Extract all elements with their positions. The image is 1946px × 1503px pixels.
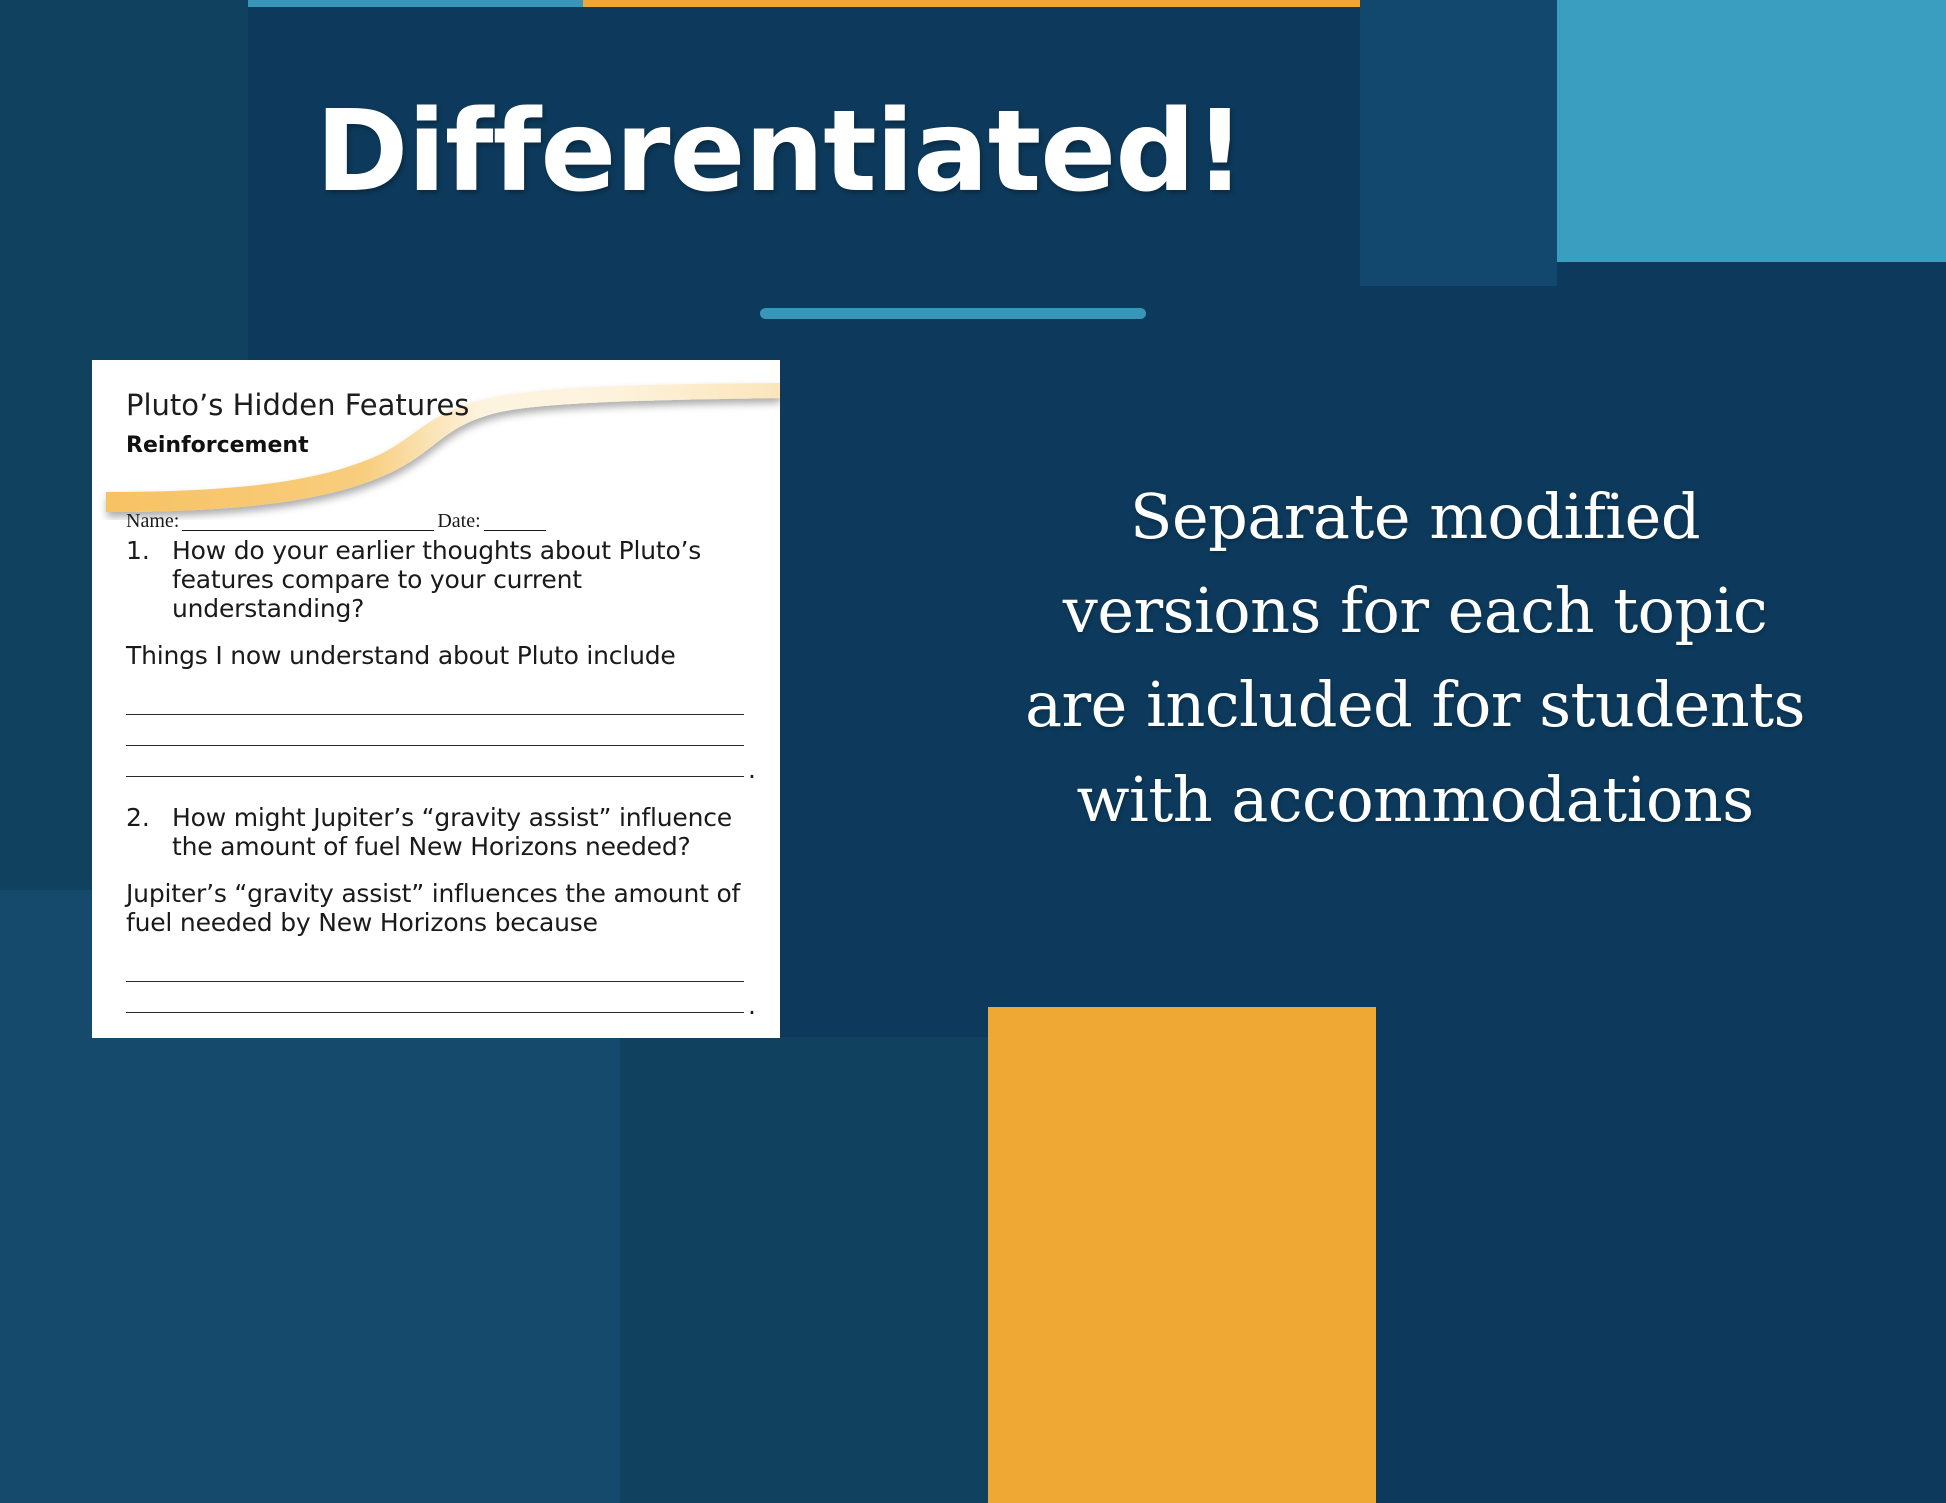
question-number: 2. <box>126 803 172 861</box>
sentence-stem: Jupiter’s “gravity assist” influences th… <box>126 879 756 937</box>
worksheet-header: Pluto’s Hidden Features Reinforcement <box>92 360 780 512</box>
question-text: How do your earlier thoughts about Pluto… <box>172 536 756 623</box>
worksheet-question: 2.How might Jupiter’s “gravity assist” i… <box>126 803 756 1013</box>
bottom-middle-panel-decoration <box>620 1037 988 1503</box>
page-title: Differentiated! <box>0 96 1560 208</box>
sentence-stem: Things I now understand about Pluto incl… <box>126 641 756 670</box>
date-blank-rule <box>484 513 546 531</box>
end-punctuation: . <box>748 755 756 784</box>
answer-line[interactable] <box>126 951 744 982</box>
worksheet-title: Pluto’s Hidden Features <box>126 388 469 422</box>
answer-lines: . <box>126 951 756 1013</box>
slide-canvas: Differentiated! <box>0 0 1946 1503</box>
worksheet-questions: 1.How do your earlier thoughts about Plu… <box>126 536 756 1038</box>
name-blank-rule <box>182 513 434 531</box>
slide-title-container: Differentiated! <box>0 96 1560 208</box>
answer-line[interactable]: . <box>126 746 744 777</box>
answer-line[interactable]: . <box>126 982 744 1013</box>
title-accent-bar <box>760 308 1146 319</box>
bottom-right-orange-block-decoration <box>988 1007 1376 1503</box>
end-punctuation: . <box>748 991 756 1020</box>
name-label: Name: <box>126 510 179 533</box>
question-number: 1. <box>126 536 172 623</box>
answer-line[interactable] <box>126 684 744 715</box>
worksheet-preview-card: Pluto’s Hidden Features Reinforcement Na… <box>92 360 780 1038</box>
answer-line[interactable] <box>126 715 744 746</box>
top-right-teal-block-decoration <box>1557 0 1946 262</box>
worksheet-name-date-row: Name: Date: <box>126 510 596 533</box>
question-row: 2.How might Jupiter’s “gravity assist” i… <box>126 803 756 861</box>
date-label: Date: <box>437 510 480 533</box>
worksheet-subtitle: Reinforcement <box>126 433 309 458</box>
worksheet-question: 1.How do your earlier thoughts about Plu… <box>126 536 756 777</box>
slide-body-text: Separate modified versions for each topi… <box>1020 470 1810 847</box>
question-text: How might Jupiter’s “gravity assist” inf… <box>172 803 756 861</box>
question-row: 1.How do your earlier thoughts about Plu… <box>126 536 756 623</box>
answer-lines: . <box>126 684 756 777</box>
